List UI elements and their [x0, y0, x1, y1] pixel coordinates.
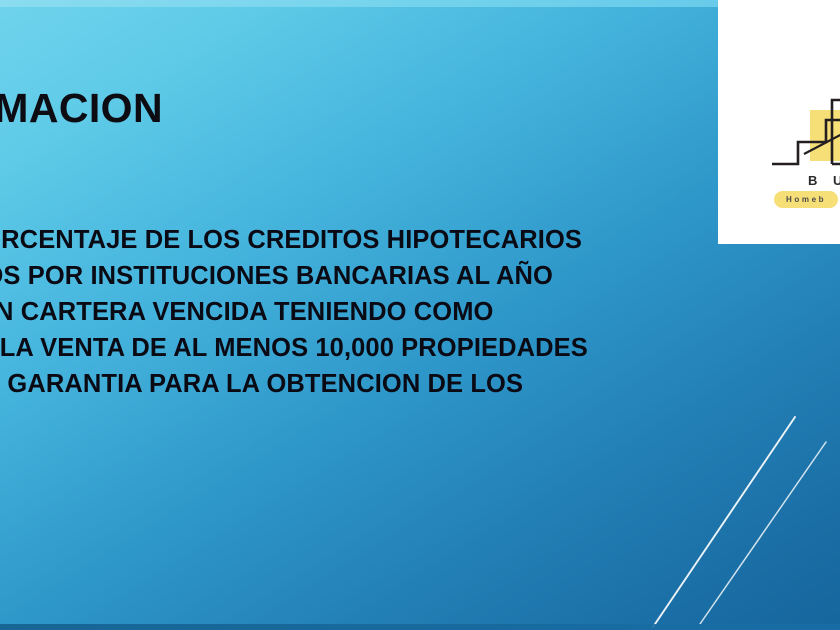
top-accent-band	[0, 0, 720, 7]
body-line: INAN EN CARTERA VENCIDA TENIENDO COMO	[0, 294, 728, 330]
page-title: ORMACION	[0, 86, 163, 131]
building-stairs-icon	[770, 92, 840, 182]
decorative-line	[653, 417, 795, 627]
body-line: LTO PORCENTAJE DE LOS CREDITOS HIPOTECAR…	[0, 222, 728, 258]
body-line: RGADOS POR INSTITUCIONES BANCARIAS AL AÑ…	[0, 258, 728, 294]
decorative-line	[700, 442, 826, 624]
body-line: TAS EN GARANTIA PARA LA OBTENCION DE LOS	[0, 366, 728, 402]
presentation-slide: ORMACION LTO PORCENTAJE DE LOS CREDITOS …	[0, 0, 840, 630]
logo-graphic: B U Homeb	[770, 92, 840, 232]
body-paragraph: LTO PORCENTAJE DE LOS CREDITOS HIPOTECAR…	[0, 222, 728, 438]
bottom-accent-band	[0, 624, 840, 630]
logo-wordmark: B U	[808, 173, 840, 188]
logo-panel: B U Homeb	[718, 0, 840, 244]
decorative-diagonal-lines	[640, 410, 840, 630]
logo-tagline: Homeb	[786, 195, 826, 204]
logo-tagline-pill: Homeb	[774, 191, 838, 208]
body-line: LTADO LA VENTA DE AL MENOS 10,000 PROPIE…	[0, 330, 728, 366]
body-line: DITOS.	[0, 402, 728, 438]
